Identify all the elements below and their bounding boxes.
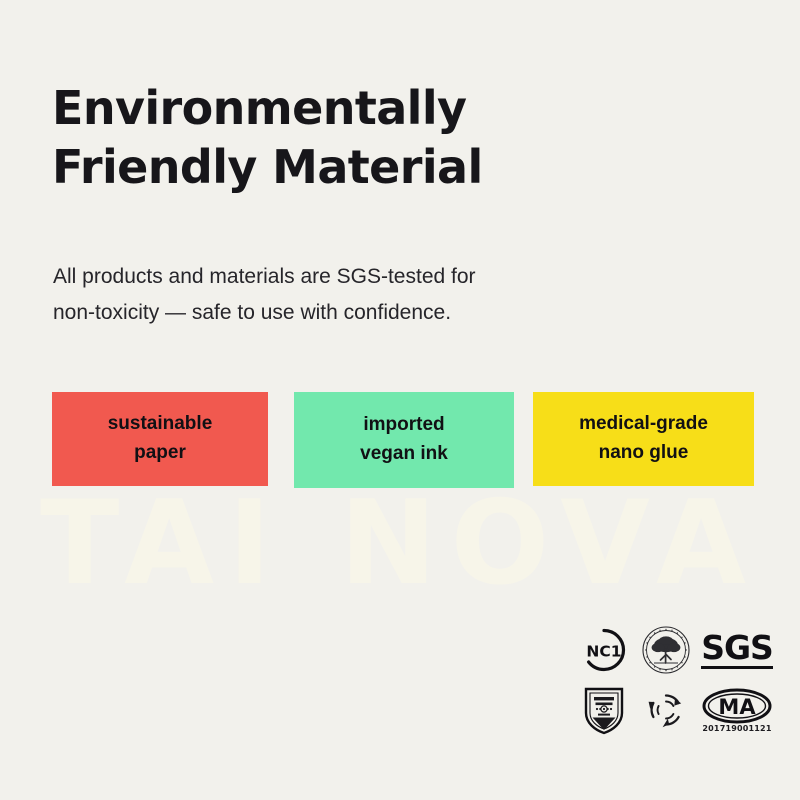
fsc-tree-seal-icon — [635, 624, 697, 676]
page-title-line-1: Environmentally — [52, 79, 692, 138]
material-chip-imported-vegan-ink: imported vegan ink — [294, 392, 514, 488]
material-chip-medical-grade-nano-glue: medical-grade nano glue — [533, 392, 754, 486]
sgs-label: SGS — [701, 631, 773, 664]
recycling-arrows-icon — [635, 684, 697, 736]
material-chip-label-line-2: vegan ink — [360, 440, 448, 469]
sgs-underline — [701, 666, 773, 669]
material-chip-label-line-2: paper — [134, 439, 186, 468]
nc1-label: NC1 — [586, 643, 621, 661]
brand-watermark: TAI NOVA — [0, 486, 800, 602]
material-chip-sustainable-paper: sustainable paper — [52, 392, 268, 486]
page-subtitle: All products and materials are SGS-teste… — [53, 259, 653, 331]
ma-certificate-number: 201719001121 — [702, 725, 771, 733]
ma-label: MA — [718, 695, 756, 719]
material-chip-label-line-2: nano glue — [599, 439, 689, 468]
certification-logo-row-top: NC1 — [575, 622, 777, 678]
shield-badge-icon — [575, 684, 633, 736]
certification-logo-group: NC1 — [575, 622, 777, 744]
page-subtitle-line-2: non-toxicity — safe to use with confiden… — [53, 295, 653, 331]
page-subtitle-line-1: All products and materials are SGS-teste… — [53, 259, 653, 295]
material-chip-label-line-1: sustainable — [108, 410, 213, 439]
environmentally-friendly-material-panel: TAI NOVA Environmentally Friendly Materi… — [0, 0, 800, 800]
nc1-certification-icon: NC1 — [575, 624, 633, 676]
material-chip-label-line-1: medical-grade — [579, 410, 708, 439]
sgs-certification-icon: SGS — [699, 624, 775, 676]
ma-certification-icon: MA 201719001121 — [699, 684, 775, 736]
certification-logo-row-bottom: MA 201719001121 — [575, 682, 777, 738]
material-chip-label-line-1: imported — [363, 411, 444, 440]
page-title-line-2: Friendly Material — [52, 138, 692, 197]
material-chip-group: sustainable paper imported vegan ink med… — [52, 392, 756, 488]
page-title: Environmentally Friendly Material — [52, 79, 692, 197]
